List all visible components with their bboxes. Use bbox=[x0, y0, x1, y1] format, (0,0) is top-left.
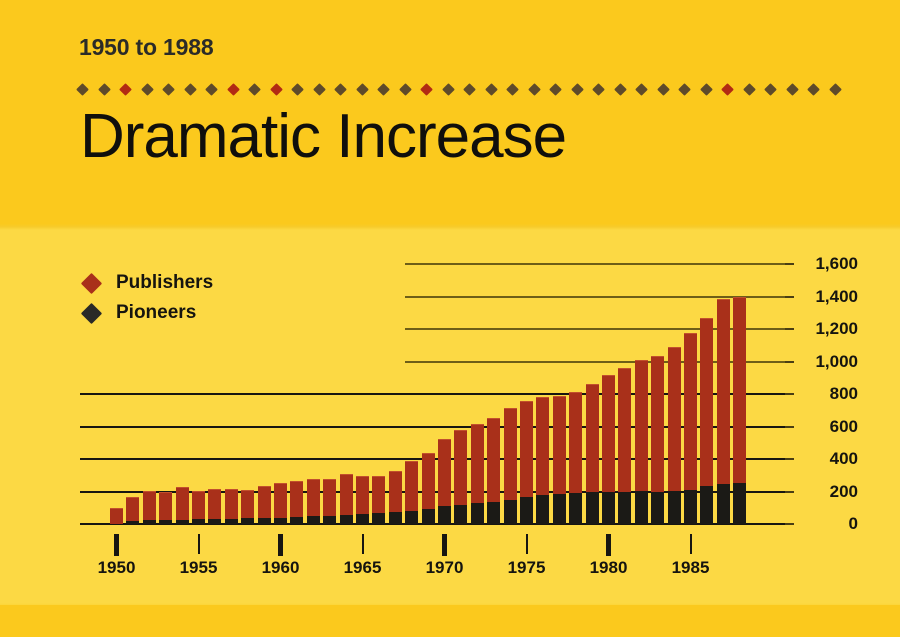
bar-1972[interactable] bbox=[471, 425, 484, 524]
bar-segment-pioneers-1966 bbox=[372, 513, 385, 524]
bar-segment-publishers-1982 bbox=[635, 360, 648, 491]
bar-segment-pioneers-1961 bbox=[290, 517, 303, 524]
bar-segment-publishers-1981 bbox=[618, 368, 631, 492]
bar-segment-publishers-1963 bbox=[323, 479, 336, 516]
bar-1967[interactable] bbox=[389, 472, 402, 524]
y-tick-200 bbox=[785, 491, 794, 493]
bar-segment-publishers-1951 bbox=[126, 497, 139, 522]
bar-segment-publishers-1960 bbox=[274, 483, 287, 517]
x-axis-label-1955: 1955 bbox=[169, 558, 229, 578]
bar-segment-pioneers-1952 bbox=[143, 520, 156, 524]
bar-segment-publishers-1956 bbox=[208, 489, 221, 519]
stacked-bar-chart: 02004006008001,0001,2001,4001,6001950195… bbox=[0, 0, 900, 637]
bar-1961[interactable] bbox=[290, 482, 303, 524]
bar-1976[interactable] bbox=[536, 398, 549, 524]
y-axis-label-800: 800 bbox=[800, 384, 858, 404]
bar-segment-publishers-1988 bbox=[733, 297, 746, 483]
bar-segment-publishers-1973 bbox=[487, 418, 500, 502]
x-tick-1955 bbox=[198, 534, 200, 554]
bar-segment-publishers-1987 bbox=[717, 299, 730, 484]
bar-segment-publishers-1984 bbox=[668, 347, 681, 491]
bar-segment-pioneers-1973 bbox=[487, 502, 500, 524]
bar-1963[interactable] bbox=[323, 480, 336, 524]
bar-segment-pioneers-1981 bbox=[618, 492, 631, 525]
bar-segment-publishers-1958 bbox=[241, 490, 254, 518]
y-axis-label-600: 600 bbox=[800, 417, 858, 437]
bar-1959[interactable] bbox=[258, 487, 271, 524]
x-axis-label-1980: 1980 bbox=[579, 558, 639, 578]
bar-1986[interactable] bbox=[700, 319, 713, 524]
x-tick-1950 bbox=[114, 534, 119, 556]
bar-1964[interactable] bbox=[340, 475, 353, 524]
infographic-root: 1950 to 1988 Dramatic Increase Publisher… bbox=[0, 0, 900, 637]
bar-1980[interactable] bbox=[602, 376, 615, 524]
y-tick-400 bbox=[785, 458, 794, 460]
bar-1951[interactable] bbox=[126, 498, 139, 524]
x-tick-1975 bbox=[526, 534, 528, 554]
bar-1984[interactable] bbox=[668, 348, 681, 524]
gridline-1400 bbox=[405, 296, 785, 298]
bar-1965[interactable] bbox=[356, 477, 369, 524]
y-axis-label-1000: 1,000 bbox=[800, 352, 858, 372]
bar-1985[interactable] bbox=[684, 334, 697, 524]
bar-1966[interactable] bbox=[372, 477, 385, 524]
bar-segment-publishers-1967 bbox=[389, 471, 402, 513]
bar-segment-pioneers-1982 bbox=[635, 491, 648, 524]
bar-segment-publishers-1955 bbox=[192, 491, 205, 519]
bar-1955[interactable] bbox=[192, 492, 205, 524]
y-axis-label-1600: 1,600 bbox=[800, 254, 858, 274]
gridline-1600 bbox=[405, 263, 785, 265]
bar-1983[interactable] bbox=[651, 357, 664, 524]
bar-1950[interactable] bbox=[110, 509, 123, 524]
bar-segment-pioneers-1962 bbox=[307, 516, 320, 524]
y-axis-label-200: 200 bbox=[800, 482, 858, 502]
bar-1979[interactable] bbox=[586, 385, 599, 524]
bar-segment-pioneers-1976 bbox=[536, 495, 549, 524]
bar-segment-publishers-1953 bbox=[159, 492, 172, 521]
bar-segment-pioneers-1979 bbox=[586, 492, 599, 524]
bar-segment-publishers-1957 bbox=[225, 489, 238, 518]
bar-segment-publishers-1978 bbox=[569, 392, 582, 493]
bar-segment-pioneers-1987 bbox=[717, 484, 730, 524]
x-axis-label-1970: 1970 bbox=[415, 558, 475, 578]
bar-1957[interactable] bbox=[225, 490, 238, 524]
y-tick-1000 bbox=[785, 361, 794, 363]
bar-segment-publishers-1972 bbox=[471, 424, 484, 503]
bar-segment-publishers-1971 bbox=[454, 430, 467, 505]
x-axis-label-1965: 1965 bbox=[333, 558, 393, 578]
bar-segment-publishers-1950 bbox=[110, 508, 123, 524]
bar-segment-pioneers-1971 bbox=[454, 505, 467, 525]
bar-segment-pioneers-1970 bbox=[438, 506, 451, 524]
bar-1973[interactable] bbox=[487, 419, 500, 524]
bar-segment-pioneers-1969 bbox=[422, 509, 435, 524]
bar-segment-publishers-1968 bbox=[405, 461, 418, 511]
bar-segment-pioneers-1967 bbox=[389, 512, 402, 524]
bar-segment-pioneers-1983 bbox=[651, 492, 664, 524]
bar-segment-pioneers-1968 bbox=[405, 511, 418, 524]
bar-1981[interactable] bbox=[618, 369, 631, 524]
bar-segment-publishers-1985 bbox=[684, 333, 697, 490]
bar-segment-pioneers-1986 bbox=[700, 486, 713, 524]
bar-segment-pioneers-1963 bbox=[323, 516, 336, 524]
bar-segment-publishers-1970 bbox=[438, 439, 451, 506]
x-axis-label-1985: 1985 bbox=[661, 558, 721, 578]
bar-segment-publishers-1965 bbox=[356, 476, 369, 514]
bar-segment-pioneers-1984 bbox=[668, 491, 681, 524]
x-axis-label-1960: 1960 bbox=[251, 558, 311, 578]
bar-segment-publishers-1961 bbox=[290, 481, 303, 516]
bar-segment-pioneers-1953 bbox=[159, 520, 172, 524]
bar-segment-publishers-1983 bbox=[651, 356, 664, 492]
bar-1953[interactable] bbox=[159, 492, 172, 524]
bar-1982[interactable] bbox=[635, 361, 648, 524]
bar-segment-pioneers-1955 bbox=[192, 519, 205, 524]
bar-segment-publishers-1966 bbox=[372, 476, 385, 513]
bar-segment-pioneers-1974 bbox=[504, 500, 517, 524]
bar-1975[interactable] bbox=[520, 402, 533, 524]
x-tick-1970 bbox=[442, 534, 447, 556]
y-tick-600 bbox=[785, 426, 794, 428]
bar-segment-publishers-1976 bbox=[536, 397, 549, 495]
bar-1969[interactable] bbox=[422, 454, 435, 524]
bar-segment-pioneers-1954 bbox=[176, 520, 189, 524]
bar-1974[interactable] bbox=[504, 409, 517, 524]
y-tick-1400 bbox=[785, 296, 794, 298]
bar-segment-publishers-1974 bbox=[504, 408, 517, 500]
y-tick-1200 bbox=[785, 328, 794, 330]
bar-segment-pioneers-1980 bbox=[602, 492, 615, 524]
bar-1988[interactable] bbox=[733, 298, 746, 524]
x-tick-1980 bbox=[606, 534, 611, 556]
bar-1987[interactable] bbox=[717, 300, 730, 524]
bar-segment-publishers-1980 bbox=[602, 375, 615, 491]
bar-segment-publishers-1954 bbox=[176, 487, 189, 520]
bar-segment-pioneers-1975 bbox=[520, 497, 533, 524]
bar-1958[interactable] bbox=[241, 491, 254, 524]
bar-segment-pioneers-1985 bbox=[684, 490, 697, 524]
bar-1968[interactable] bbox=[405, 462, 418, 524]
bar-1962[interactable] bbox=[307, 480, 320, 524]
bar-segment-pioneers-1977 bbox=[553, 494, 566, 524]
bar-segment-pioneers-1960 bbox=[274, 518, 287, 525]
y-tick-1600 bbox=[785, 263, 794, 265]
bar-1956[interactable] bbox=[208, 490, 221, 524]
bar-segment-pioneers-1964 bbox=[340, 515, 353, 524]
bar-segment-pioneers-1965 bbox=[356, 514, 369, 524]
y-axis-label-0: 0 bbox=[800, 514, 858, 534]
bar-segment-publishers-1964 bbox=[340, 474, 353, 515]
bar-segment-publishers-1959 bbox=[258, 486, 271, 518]
y-axis-label-1200: 1,200 bbox=[800, 319, 858, 339]
bar-1970[interactable] bbox=[438, 440, 451, 524]
bar-segment-pioneers-1959 bbox=[258, 518, 271, 524]
bar-segment-pioneers-1988 bbox=[733, 483, 746, 524]
bar-1952[interactable] bbox=[143, 492, 156, 525]
bar-segment-pioneers-1972 bbox=[471, 503, 484, 524]
bar-segment-publishers-1975 bbox=[520, 401, 533, 496]
x-tick-1985 bbox=[690, 534, 692, 554]
x-axis-label-1950: 1950 bbox=[87, 558, 147, 578]
bar-segment-pioneers-1951 bbox=[126, 521, 139, 524]
bar-segment-pioneers-1958 bbox=[241, 518, 254, 524]
bar-segment-publishers-1986 bbox=[700, 318, 713, 486]
bar-1954[interactable] bbox=[176, 488, 189, 524]
bar-segment-publishers-1969 bbox=[422, 453, 435, 509]
bar-segment-pioneers-1957 bbox=[225, 519, 238, 524]
y-tick-0 bbox=[785, 523, 794, 525]
x-tick-1965 bbox=[362, 534, 364, 554]
bar-segment-publishers-1977 bbox=[553, 396, 566, 494]
bar-segment-publishers-1979 bbox=[586, 384, 599, 492]
bar-segment-pioneers-1956 bbox=[208, 519, 221, 524]
x-tick-1960 bbox=[278, 534, 283, 556]
bar-segment-publishers-1952 bbox=[143, 491, 156, 521]
bar-1978[interactable] bbox=[569, 393, 582, 524]
y-axis-label-400: 400 bbox=[800, 449, 858, 469]
x-axis-label-1975: 1975 bbox=[497, 558, 557, 578]
bar-segment-pioneers-1978 bbox=[569, 493, 582, 524]
y-axis-label-1400: 1,400 bbox=[800, 287, 858, 307]
bar-segment-publishers-1962 bbox=[307, 479, 320, 517]
bar-1971[interactable] bbox=[454, 431, 467, 524]
bar-1960[interactable] bbox=[274, 484, 287, 524]
bar-1977[interactable] bbox=[553, 397, 566, 524]
y-tick-800 bbox=[785, 393, 794, 395]
